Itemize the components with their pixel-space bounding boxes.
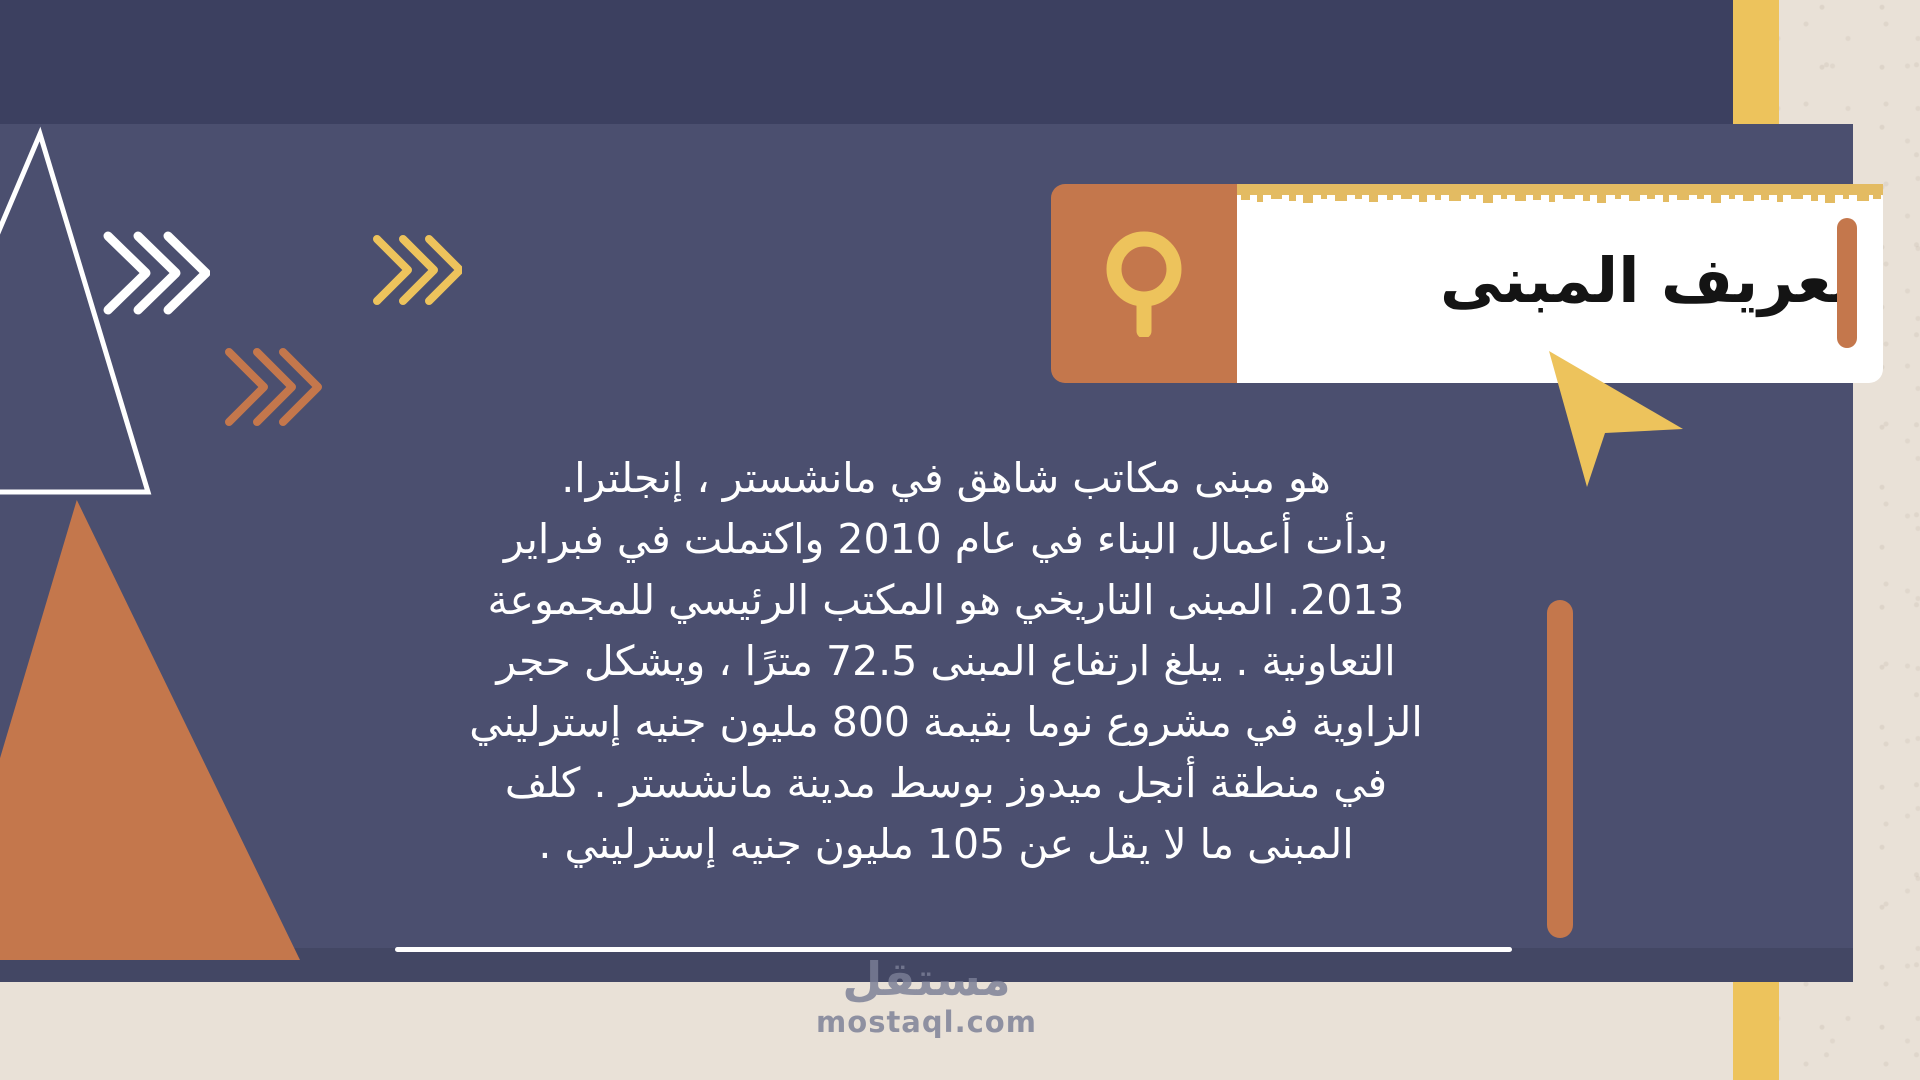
chevron-group-white — [100, 228, 210, 318]
arrow-cursor-icon — [1543, 345, 1693, 495]
body-line: هو مبنى مكاتب شاهق في مانشستر ، إنجلترا. — [352, 448, 1540, 509]
chevron-group-orange — [222, 345, 322, 429]
torn-gold-edge — [1237, 184, 1883, 206]
body-line: الزاوية في مشروع نوما بقيمة 800 مليون جن… — [352, 692, 1540, 753]
watermark-latin: mostaql.com — [816, 1005, 1037, 1039]
body-paragraph: هو مبنى مكاتب شاهق في مانشستر ، إنجلترا.… — [352, 448, 1540, 875]
chevron-group-gold — [370, 232, 462, 308]
body-line: 2013. المبنى التاريخي هو المكتب الرئيسي … — [352, 570, 1540, 631]
search-icon — [1096, 227, 1192, 341]
page-title: تعريف المبنى — [1440, 250, 1855, 318]
mostaql-watermark: مستقل mostaql.com — [0, 955, 1853, 1039]
body-line: بدأت أعمال البناء في عام 2010 واكتملت في… — [352, 509, 1540, 570]
title-banner: تعريف المبنى — [1051, 184, 1883, 383]
slide-canvas: تعريف المبنى هو مبنى مكاتب شاهق في مانشس… — [0, 0, 1920, 1080]
title-accent-bar — [1837, 218, 1857, 348]
text-accent-bar — [1547, 600, 1573, 938]
body-line: في منطقة أنجل ميدوز بوسط مدينة مانشستر .… — [352, 753, 1540, 814]
body-line: التعاونية . يبلغ ارتفاع المبنى 72.5 مترً… — [352, 631, 1540, 692]
watermark-arabic: مستقل — [842, 955, 1010, 1003]
top-dark-band — [0, 0, 1740, 124]
body-text-block: هو مبنى مكاتب شاهق في مانشستر ، إنجلترا.… — [352, 448, 1540, 875]
title-icon-box — [1051, 184, 1237, 383]
body-line: المبنى ما لا يقل عن 105 مليون جنيه إسترل… — [352, 814, 1540, 875]
